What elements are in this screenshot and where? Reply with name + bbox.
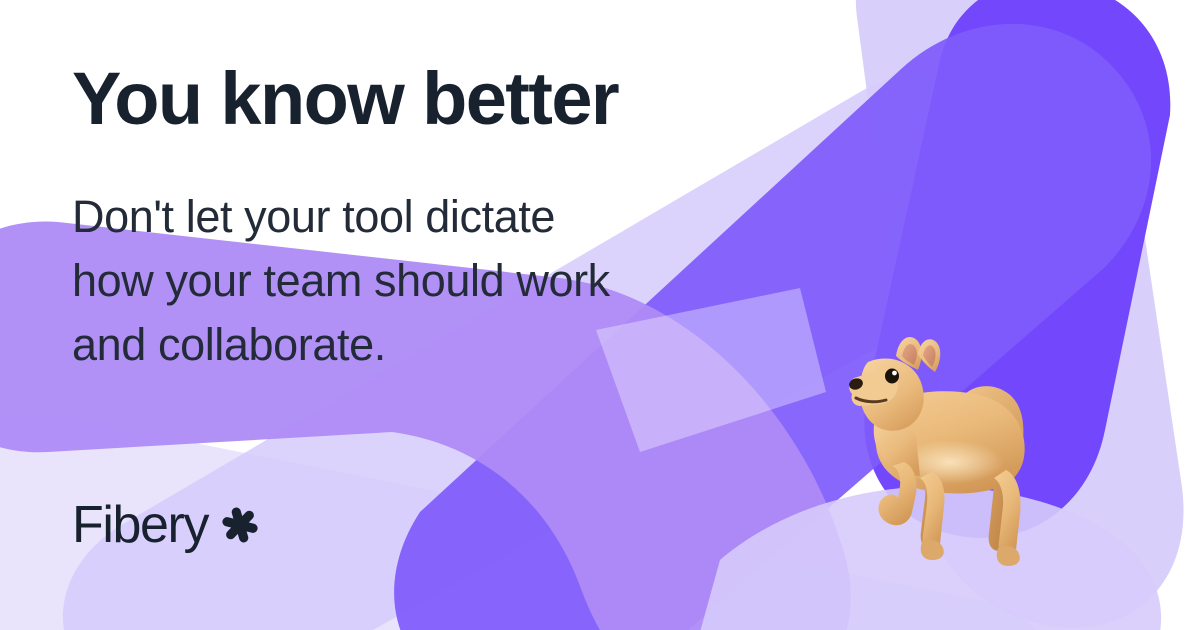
fibery-logo[interactable]: Fibery: [72, 497, 260, 553]
fibery-asterisk-icon: [220, 504, 260, 546]
fibery-wordmark: Fibery: [72, 499, 208, 551]
card-content: You know better Don't let your tool dict…: [0, 0, 1200, 630]
subtitle-line-3: and collaborate.: [72, 313, 732, 377]
headline: You know better: [72, 62, 832, 136]
subtitle-line-2: how your team should work: [72, 249, 732, 313]
social-card: You know better Don't let your tool dict…: [0, 0, 1200, 630]
subtitle: Don't let your tool dictate how your tea…: [72, 185, 732, 377]
dog-emoji: [846, 336, 1094, 568]
subtitle-line-1: Don't let your tool dictate: [72, 185, 732, 249]
